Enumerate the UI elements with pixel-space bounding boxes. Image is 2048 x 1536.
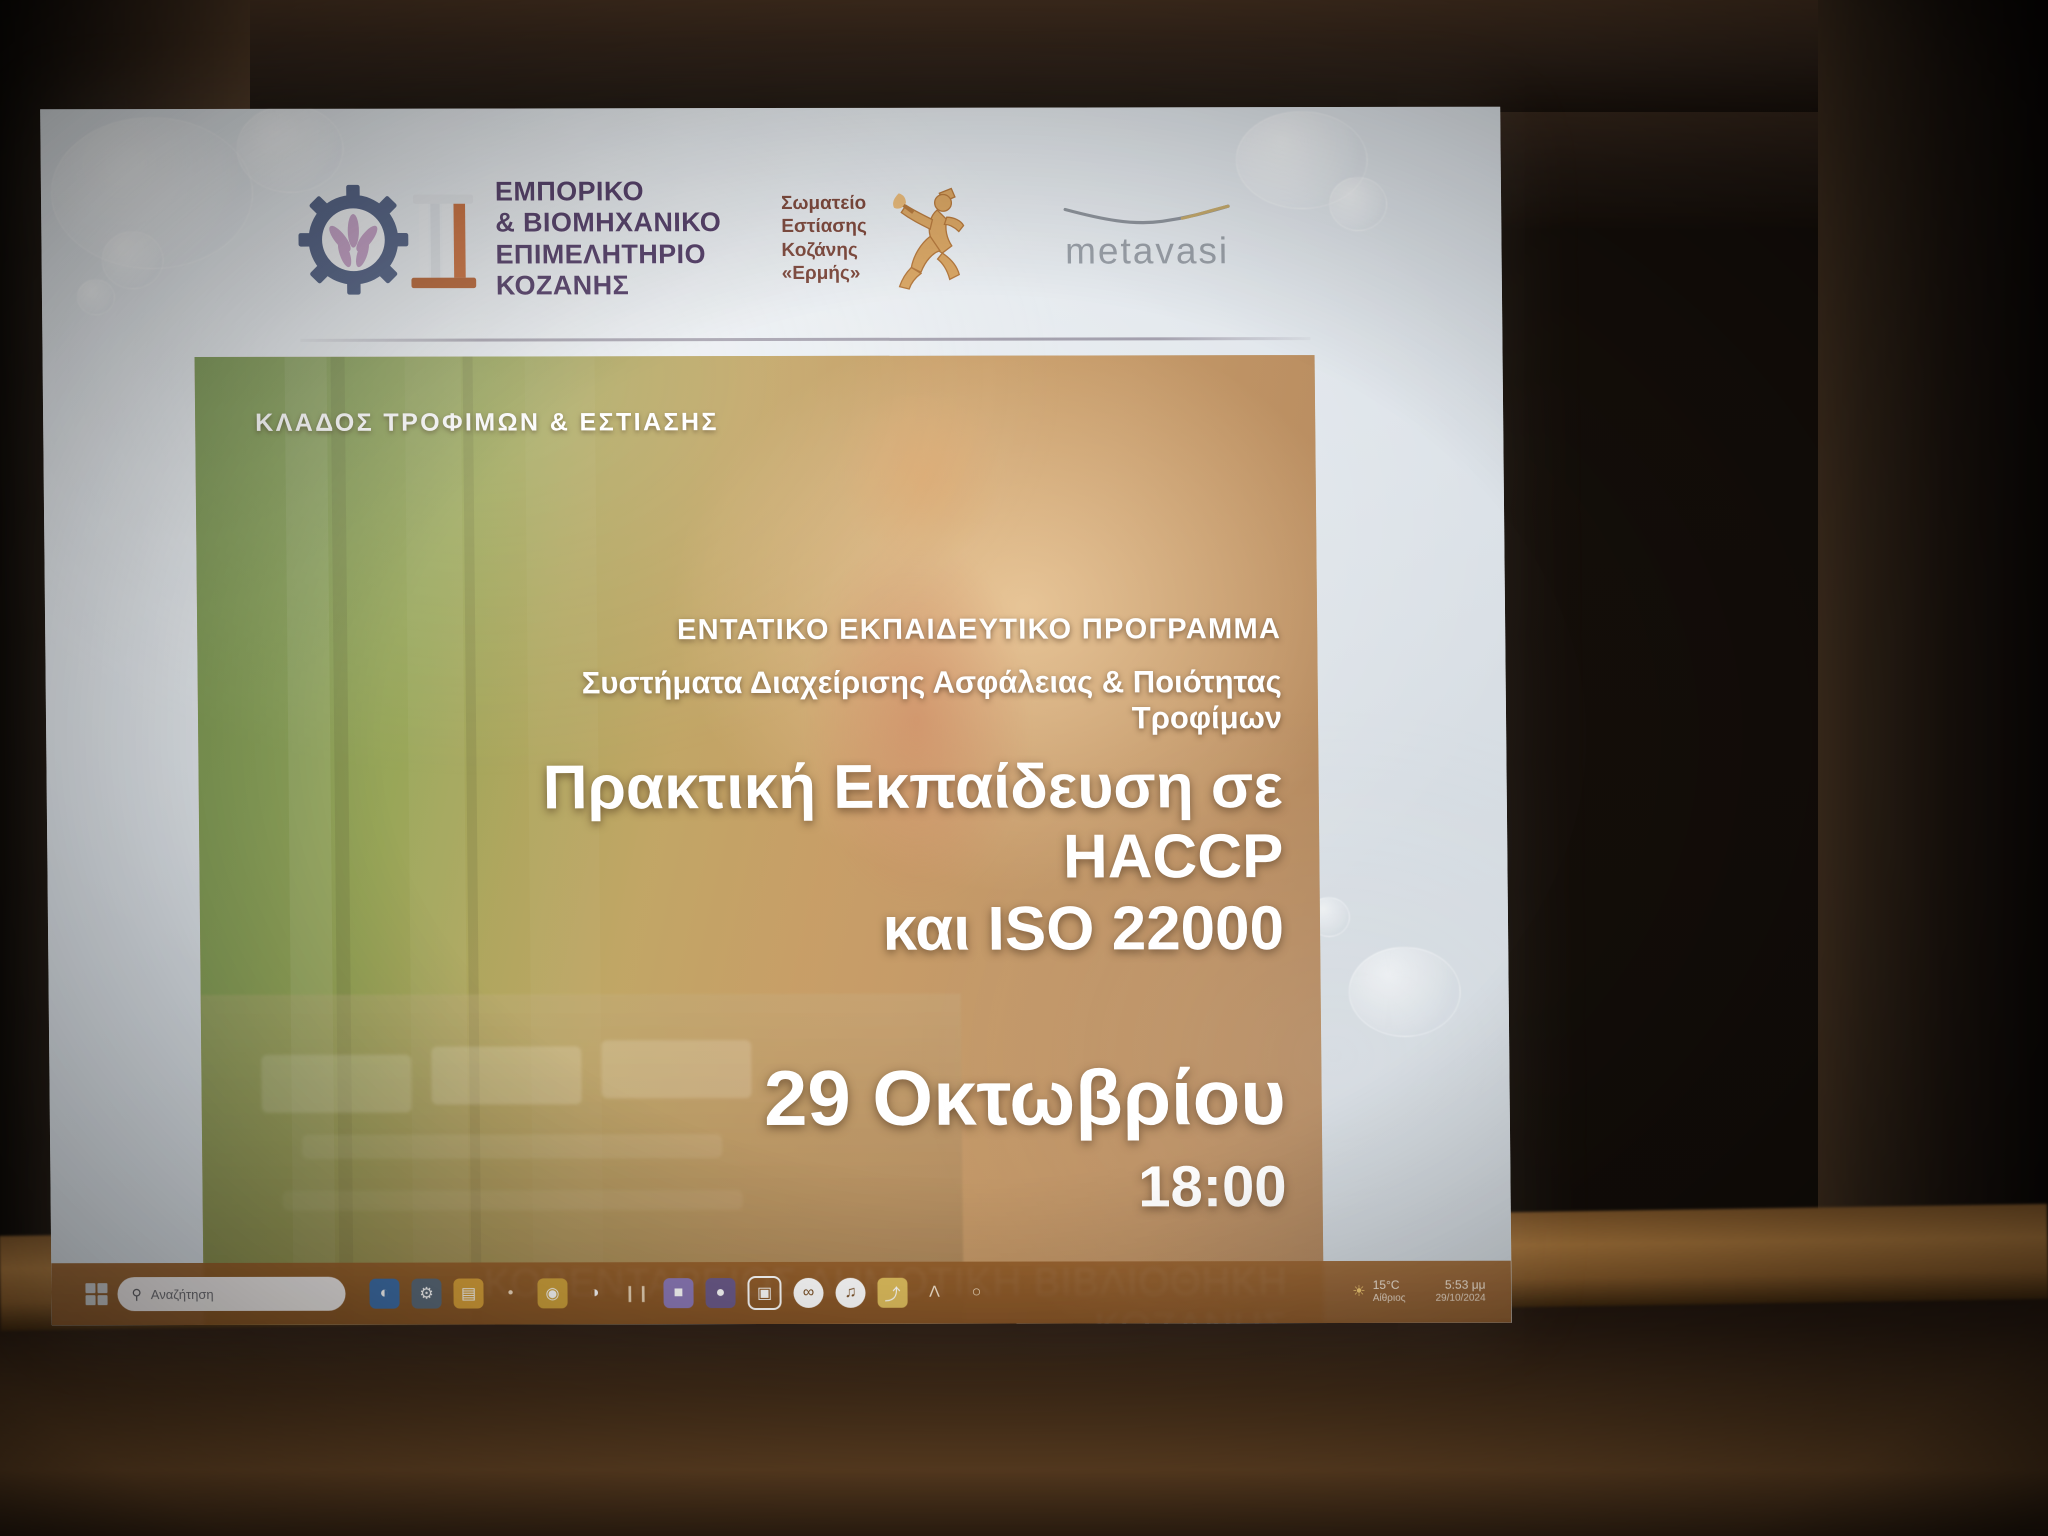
clock-widget[interactable]: 5:53 μμ 29/10/2024 bbox=[1435, 1278, 1485, 1306]
program-subtitle: Συστήματα Διαχείρισης Ασφάλειας & Ποιότη… bbox=[442, 664, 1283, 737]
app-icon[interactable]: ○ bbox=[961, 1278, 991, 1308]
weather-widget[interactable]: ☀ 15°C Αίθριος bbox=[1352, 1278, 1405, 1306]
gear-icon bbox=[297, 183, 410, 295]
clock-time: 5:53 μμ bbox=[1445, 1278, 1486, 1293]
media-player-icon[interactable]: ● bbox=[705, 1278, 735, 1308]
running-hermes-with-torch-icon bbox=[876, 183, 973, 293]
weather-condition: Αίθριος bbox=[1373, 1293, 1406, 1306]
clock-date: 29/10/2024 bbox=[1436, 1293, 1486, 1306]
search-placeholder: Αναζήτηση bbox=[151, 1286, 214, 1301]
metavasi-wordmark: metavasi bbox=[1065, 230, 1229, 272]
program-eyebrow: ΕΝΤΑΤΙΚΟ ΕΚΠΑΙΔΕΥΤΙΚΟ ΠΡΟΓΡΑΜΜΑ bbox=[441, 613, 1281, 647]
event-time: 18:00 bbox=[446, 1153, 1287, 1221]
greek-column-icon bbox=[405, 187, 482, 291]
taskbar-app-icons: ◐ ⚙ ▤ • ◉ ◑ ❙❙ ■ ● ▣ ∞ ♫ ⤴ Λ ○ bbox=[369, 1276, 991, 1311]
slide-hero: ΚΛΑΔΟΣ ΤΡΟΦΙΜΩΝ & ΕΣΤΙΑΣΗΣ ΕΝΤΑΤΙΚΟ ΕΚΠΑ… bbox=[195, 355, 1324, 1325]
event-date: 29 Οκτωβρίου bbox=[445, 1052, 1286, 1144]
room-scene: ΕΜΠΟΡΙΚΟ & ΒΙΟΜΗΧΑΝΙΚΟ ΕΠΙΜΕΛΗΤΗΡΙΟ ΚΟΖΑ… bbox=[0, 0, 2048, 1536]
edge-icon[interactable]: ◐ bbox=[369, 1279, 399, 1309]
windows-taskbar: ⚲ Αναζήτηση ◐ ⚙ ▤ • ◉ ◑ ❙❙ ■ ● ▣ ∞ bbox=[51, 1261, 1512, 1326]
chamber-logo-text: ΕΜΠΟΡΙΚΟ & ΒΙΟΜΗΧΑΝΙΚΟ ΕΠΙΜΕΛΗΤΗΡΙΟ ΚΟΖΑ… bbox=[495, 176, 722, 302]
search-icon: ⚲ bbox=[131, 1286, 141, 1303]
program-title-line2: και ISO 22000 bbox=[444, 894, 1285, 966]
chrome-icon[interactable]: ◉ bbox=[537, 1278, 567, 1308]
ceiling bbox=[0, 0, 2048, 112]
slide-deck: ΕΜΠΟΡΙΚΟ & ΒΙΟΜΗΧΑΝΙΚΟ ΕΠΙΜΕΛΗΤΗΡΙΟ ΚΟΖΑ… bbox=[40, 107, 1512, 1325]
teams-icon[interactable]: • bbox=[495, 1278, 525, 1308]
box-icon[interactable]: ▣ bbox=[747, 1276, 781, 1310]
header-divider bbox=[300, 337, 1310, 342]
music-icon[interactable]: ♫ bbox=[835, 1278, 865, 1308]
notes-icon[interactable]: ⤴ bbox=[877, 1278, 907, 1308]
slide-copy: ΕΝΤΑΤΙΚΟ ΕΚΠΑΙΔΕΥΤΙΚΟ ΠΡΟΓΡΑΜΜΑ Συστήματ… bbox=[441, 613, 1289, 1325]
sector-kicker: ΚΛΑΔΟΣ ΤΡΟΦΙΜΩΝ & ΕΣΤΙΑΣΗΣ bbox=[255, 408, 719, 438]
bars-icon[interactable]: ❙❙ bbox=[621, 1278, 651, 1308]
windows-start-button[interactable] bbox=[85, 1283, 107, 1305]
ermis-catering-association-logo: Σωματείο Εστίασης Κοζάνης «Ερμής» bbox=[781, 183, 974, 293]
file-explorer-icon[interactable]: ▤ bbox=[453, 1278, 483, 1308]
viber-icon[interactable]: ■ bbox=[663, 1278, 693, 1308]
weather-temperature: 15°C bbox=[1373, 1278, 1400, 1293]
sun-icon: ☀ bbox=[1352, 1283, 1366, 1302]
chamber-of-commerce-kozani-logo: ΕΜΠΟΡΙΚΟ & ΒΙΟΜΗΧΑΝΙΚΟ ΕΠΙΜΕΛΗΤΗΡΙΟ ΚΟΖΑ… bbox=[297, 176, 722, 302]
system-tray: ☀ 15°C Αίθριος 5:53 μμ 29/10/2024 bbox=[1352, 1278, 1512, 1306]
taskbar-left: ⚲ Αναζήτηση ◐ ⚙ ▤ • ◉ ◑ ❙❙ ■ ● ▣ ∞ bbox=[51, 1276, 991, 1312]
search-input[interactable]: ⚲ Αναζήτηση bbox=[117, 1277, 345, 1311]
ermis-logo-text: Σωματείο Εστίασης Κοζάνης «Ερμής» bbox=[781, 192, 867, 285]
acrobat-icon[interactable]: Λ bbox=[919, 1278, 949, 1308]
messenger-icon[interactable]: ∞ bbox=[793, 1278, 823, 1308]
program-title-line1: Πρακτική Εκπαίδευση σε HACCP bbox=[442, 752, 1283, 894]
settings-icon[interactable]: ⚙ bbox=[411, 1279, 441, 1309]
slide-logo-bar: ΕΜΠΟΡΙΚΟ & ΒΙΟΜΗΧΑΝΙΚΟ ΕΠΙΜΕΛΗΤΗΡΙΟ ΚΟΖΑ… bbox=[273, 145, 1335, 332]
projection-screen: ΕΜΠΟΡΙΚΟ & ΒΙΟΜΗΧΑΝΙΚΟ ΕΠΙΜΕΛΗΤΗΡΙΟ ΚΟΖΑ… bbox=[40, 107, 1512, 1325]
outlook-icon[interactable]: ◑ bbox=[579, 1278, 609, 1308]
metavasi-logo: metavasi bbox=[1061, 203, 1234, 272]
